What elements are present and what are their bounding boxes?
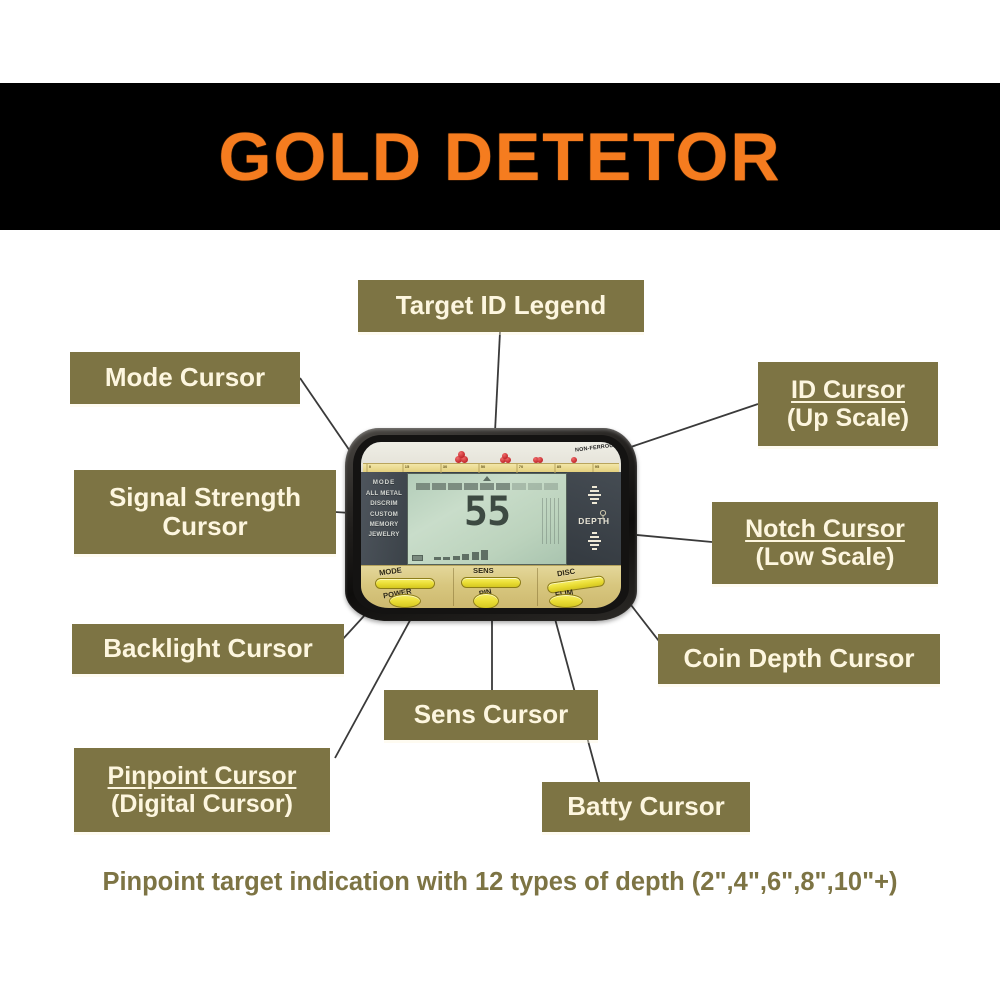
callout-label: Pinpoint Cursor: [108, 762, 297, 790]
device-face: NON-FERROUS 0 15 30 50 70 85 95 MODE ALL…: [361, 442, 621, 608]
callout-label: Signal Strength: [109, 483, 301, 512]
legend-tick-label: 85: [557, 464, 561, 469]
callout-notch-cursor[interactable]: Notch Cursor (Low Scale): [712, 502, 938, 584]
mode-list-header: MODE: [361, 479, 407, 486]
callout-target-id-legend[interactable]: Target ID Legend: [358, 280, 644, 332]
mode-item-all-metal[interactable]: ALL METAL: [361, 490, 407, 497]
mode-item-jewelry[interactable]: JEWELRY: [361, 531, 407, 538]
button-panel: MODE SENS DISC POWER PIN ELIM: [361, 565, 621, 608]
callout-label: Target ID Legend: [396, 291, 606, 320]
mode-item-discrim[interactable]: DISCRIM: [361, 500, 407, 507]
callout-pinpoint-cursor[interactable]: Pinpoint Cursor (Digital Cursor): [74, 748, 330, 832]
callout-label: Coin Depth Cursor: [683, 644, 914, 673]
legend-tick-label: 70: [519, 464, 523, 469]
callout-sens-cursor[interactable]: Sens Cursor: [384, 690, 598, 740]
callout-sublabel: (Digital Cursor): [111, 790, 293, 818]
callout-label: Sens Cursor: [414, 700, 569, 729]
callout-label: Mode Cursor: [105, 363, 265, 392]
panel-divider: [537, 568, 538, 606]
sens-button-label: SENS: [473, 566, 494, 575]
coin-depth-column: DEPTH ⚲: [567, 472, 621, 566]
depth-bars-upper-icon: [587, 484, 601, 506]
diagram-canvas: GOLD DETETOR Target ID Leg: [0, 0, 1000, 1000]
target-id-legend-strip: NON-FERROUS 0 15 30 50 70 85 95: [361, 442, 621, 472]
legend-tick-label: 50: [481, 464, 485, 469]
callout-label: Batty Cursor: [567, 792, 724, 821]
id-cursor-pointer-icon: [483, 476, 491, 481]
title-banner: GOLD DETETOR: [0, 83, 1000, 230]
footer-caption: Pinpoint target indication with 12 types…: [0, 868, 1000, 897]
callout-sublabel: Cursor: [162, 512, 247, 541]
mode-item-custom[interactable]: CUSTOM: [361, 511, 407, 518]
pin-button[interactable]: [473, 593, 499, 608]
callout-coin-depth-cursor[interactable]: Coin Depth Cursor: [658, 634, 940, 684]
elim-button[interactable]: [549, 594, 583, 608]
callout-backlight-cursor[interactable]: Backlight Cursor: [72, 624, 344, 674]
legend-tick-label: 30: [443, 464, 447, 469]
callout-batty-cursor[interactable]: Batty Cursor: [542, 782, 750, 832]
page-title: GOLD DETETOR: [219, 118, 782, 196]
panel-divider: [453, 568, 454, 606]
mode-item-memory[interactable]: MEMORY: [361, 521, 407, 528]
mode-button-label: MODE: [378, 565, 402, 577]
callout-mode-cursor[interactable]: Mode Cursor: [70, 352, 300, 404]
depth-bars-lower-icon: [587, 530, 601, 552]
legend-scale-axis: 0 15 30 50 70 85 95: [363, 463, 619, 472]
callout-label: ID Cursor: [791, 376, 905, 404]
mode-list-column: MODE ALL METAL DISCRIM CUSTOM MEMORY JEW…: [361, 472, 407, 566]
lcd-target-id-value: 55: [408, 492, 566, 532]
non-ferrous-label: NON-FERROUS: [574, 442, 617, 453]
battery-icon: [412, 555, 423, 561]
metal-detector-control-box: NON-FERROUS 0 15 30 50 70 85 95 MODE ALL…: [345, 428, 637, 621]
callout-id-cursor[interactable]: ID Cursor (Up Scale): [758, 362, 938, 446]
callout-label: Notch Cursor: [745, 515, 905, 543]
callout-signal-strength-cursor[interactable]: Signal Strength Cursor: [74, 470, 336, 554]
power-button[interactable]: [389, 594, 421, 608]
lcd-screen: 55: [407, 473, 567, 565]
callout-label: Backlight Cursor: [103, 634, 313, 663]
target-icon-row: NON-FERROUS: [361, 444, 621, 463]
headphone-jack-icon: ⚲: [599, 508, 615, 520]
legend-tick-label: 0: [369, 464, 371, 469]
legend-tick-label: 15: [405, 464, 409, 469]
notch-cursor-segment-row: [434, 550, 488, 560]
disc-button-label: DISC: [556, 567, 575, 579]
callout-sublabel: (Up Scale): [787, 404, 909, 432]
callout-sublabel: (Low Scale): [756, 543, 895, 571]
legend-tick-label: 95: [595, 464, 599, 469]
sens-button[interactable]: [461, 577, 521, 588]
